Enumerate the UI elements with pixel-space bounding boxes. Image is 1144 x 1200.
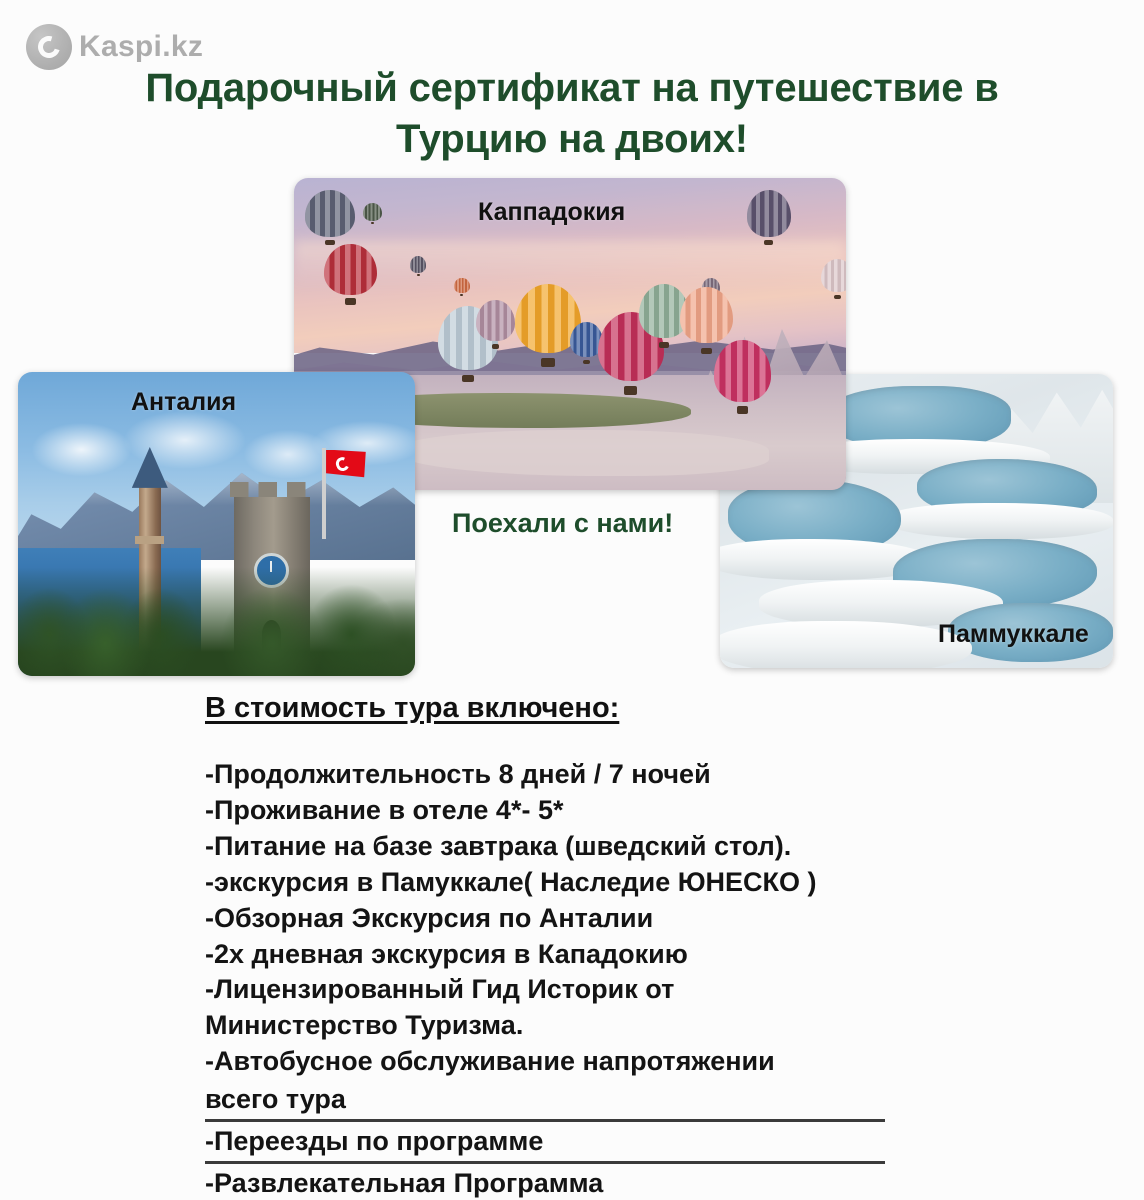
section-title-included: В стоимость тура включено: [205, 692, 619, 725]
travertine-terrace [885, 503, 1113, 538]
balloon-icon [714, 340, 772, 415]
photo-card-antalya: Анталия [18, 372, 415, 676]
list-item: -Развлекательная Программа [205, 1166, 885, 1200]
tagline: Поехали с нами! [452, 508, 673, 539]
balloon-icon [363, 203, 382, 225]
watermark-label: Kaspi.kz [79, 30, 203, 64]
balloon-icon [454, 278, 469, 297]
list-item: всего тура [205, 1082, 885, 1122]
balloon-icon [324, 244, 376, 306]
list-item: -Продолжительность 8 дней / 7 ночей [205, 757, 905, 793]
foliage [18, 567, 415, 676]
list-item: -Проживание в отеле 4*- 5* [205, 793, 905, 829]
promo-poster: Kaspi.kz Подарочный сертификат на путеше… [0, 0, 1144, 1200]
card-label-pammukkale: Паммуккале [938, 620, 1089, 649]
card-label-antaliya: Анталия [131, 388, 236, 417]
balloon-icon [476, 300, 515, 350]
flagpole [322, 448, 326, 539]
list-item: -2х дневная экскурсия в Кападокию [205, 937, 905, 973]
benefits-list: -Продолжительность 8 дней / 7 ночей -Про… [205, 757, 905, 1200]
list-item: -Обзорная Экскурсия по Анталии [205, 901, 905, 937]
balloon-icon [821, 259, 846, 300]
card-label-cappadokiya: Каппадокия [478, 198, 625, 227]
list-item: Министерство Туризма. [205, 1008, 905, 1044]
headline-line-1: Подарочный сертификат на путешествие в [145, 66, 998, 110]
balloon-icon [410, 256, 427, 276]
list-item: -Лицензированный Гид Историк от [205, 972, 905, 1008]
list-item: -Питание на базе завтрака (шведский стол… [205, 829, 905, 865]
antalya-scene [18, 372, 415, 676]
battlement [230, 482, 314, 497]
balloon-icon [305, 190, 355, 246]
headline-line-2: Турцию на двоих! [24, 114, 1120, 165]
list-item: -экскурсия в Памуккале( Наследие ЮНЕСКО … [205, 865, 905, 901]
list-item: -Автобусное обслуживание напротяжении [205, 1044, 905, 1080]
list-item: -Переезды по программе [205, 1124, 885, 1164]
page-title: Подарочный сертификат на путешествие в Т… [0, 63, 1144, 165]
travertine-terrace [720, 621, 972, 668]
balloon-icon [747, 190, 791, 246]
